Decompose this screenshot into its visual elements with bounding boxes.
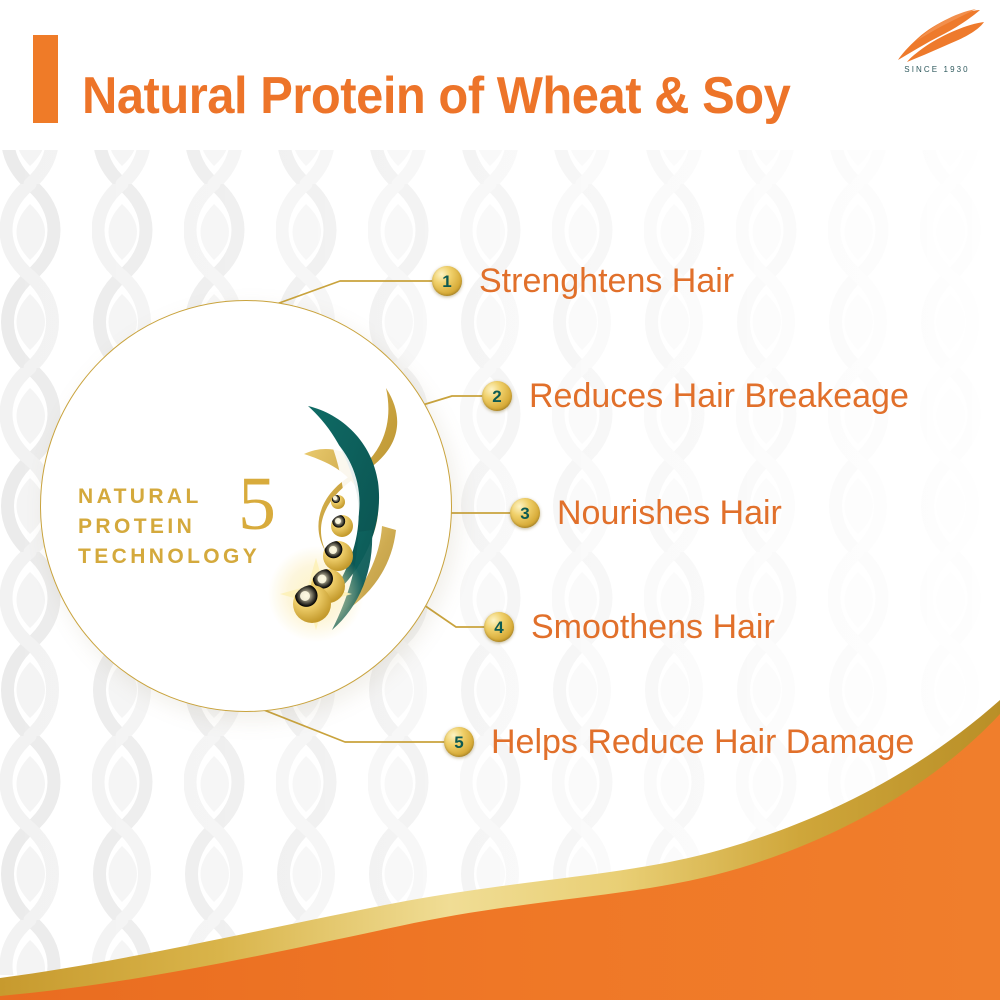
- infographic-poster: Natural Protein of Wheat & Soy SINCE 193…: [0, 0, 1000, 1000]
- benefit-item-1: 1 Strenghtens Hair: [432, 258, 734, 304]
- benefit-badge-5: 5: [444, 727, 474, 757]
- benefit-badge-2: 2: [482, 381, 512, 411]
- benefit-label-5: Helps Reduce Hair Damage: [491, 723, 914, 762]
- benefit-number-5: 5: [454, 734, 463, 751]
- benefit-label-2: Reduces Hair Breakeage: [529, 377, 909, 416]
- benefit-label-3: Nourishes Hair: [557, 494, 782, 533]
- benefit-number-4: 4: [494, 619, 503, 636]
- wordmark-number-five: 5: [238, 466, 276, 542]
- benefit-number-1: 1: [442, 273, 451, 290]
- benefit-badge-3: 3: [510, 498, 540, 528]
- header-accent-bar: [33, 35, 58, 123]
- benefit-item-5: 5 Helps Reduce Hair Damage: [444, 719, 914, 765]
- page-title: Natural Protein of Wheat & Soy: [82, 66, 790, 126]
- benefit-number-3: 3: [520, 505, 529, 522]
- brand-since-text: SINCE 1930: [888, 65, 986, 74]
- benefit-badge-4: 4: [484, 612, 514, 642]
- brand-logo: SINCE 1930: [888, 8, 986, 84]
- benefit-item-3: 3 Nourishes Hair: [510, 490, 782, 536]
- benefit-number-2: 2: [492, 388, 501, 405]
- wordmark-line-3: TECHNOLOGY: [78, 542, 308, 572]
- benefit-item-4: 4 Smoothens Hair: [484, 604, 775, 650]
- benefit-item-2: 2 Reduces Hair Breakeage: [482, 373, 909, 419]
- flame-icon: [888, 8, 986, 64]
- benefit-label-1: Strenghtens Hair: [479, 262, 734, 301]
- benefit-badge-1: 1: [432, 266, 462, 296]
- benefit-label-4: Smoothens Hair: [531, 608, 775, 647]
